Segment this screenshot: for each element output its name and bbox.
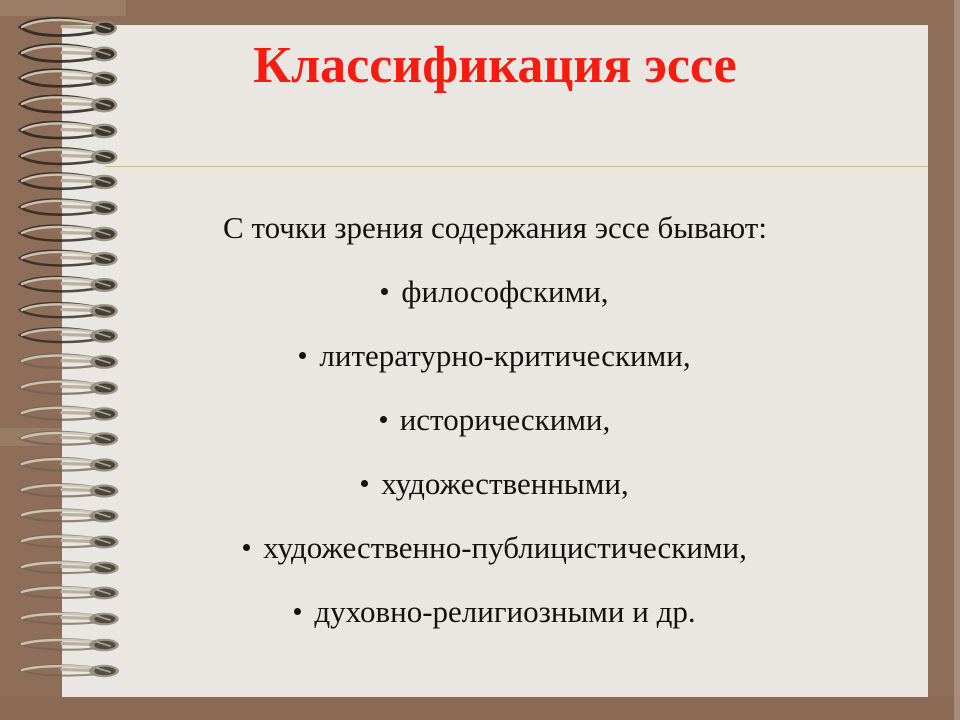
- list-item: литературно-критическими,: [100, 324, 890, 388]
- background-patch-top-left: [0, 0, 126, 16]
- page-title: Классификация эссе: [62, 36, 928, 96]
- list-item: духовно-религиозными и др.: [100, 580, 890, 644]
- list-item-label: философскими,: [401, 274, 608, 309]
- list-item-label: историческими,: [400, 402, 611, 437]
- bullet-dot-icon: [381, 288, 388, 295]
- list-item: художественными,: [100, 452, 890, 516]
- background-patch-right-edge: [954, 0, 960, 720]
- list-item-label: художественными,: [381, 466, 628, 501]
- list-item: философскими,: [100, 260, 890, 324]
- bullet-dot-icon: [299, 352, 306, 359]
- bullet-dot-icon: [361, 480, 368, 487]
- list-item-label: литературно-критическими,: [319, 338, 690, 373]
- list-item: художественно-публицистическими,: [100, 516, 890, 580]
- background-patch-bottom: [0, 696, 960, 720]
- bullet-dot-icon: [243, 544, 250, 551]
- title-divider-rule: [105, 166, 928, 167]
- bullet-dot-icon: [380, 416, 387, 423]
- slide-canvas: Классификация эссе С точки зрения содерж…: [0, 0, 960, 720]
- intro-line: С точки зрения содержания эссе бывают:: [100, 196, 890, 260]
- list-item-label: духовно-религиозными и др.: [314, 594, 695, 629]
- list-item: историческими,: [100, 388, 890, 452]
- bullet-dot-icon: [294, 608, 301, 615]
- list-item-label: художественно-публицистическими,: [263, 530, 747, 565]
- content-list: С точки зрения содержания эссе бывают: ф…: [100, 196, 890, 644]
- background-patch-mid-left: [0, 428, 62, 446]
- intro-line-label: С точки зрения содержания эссе бывают:: [223, 210, 767, 245]
